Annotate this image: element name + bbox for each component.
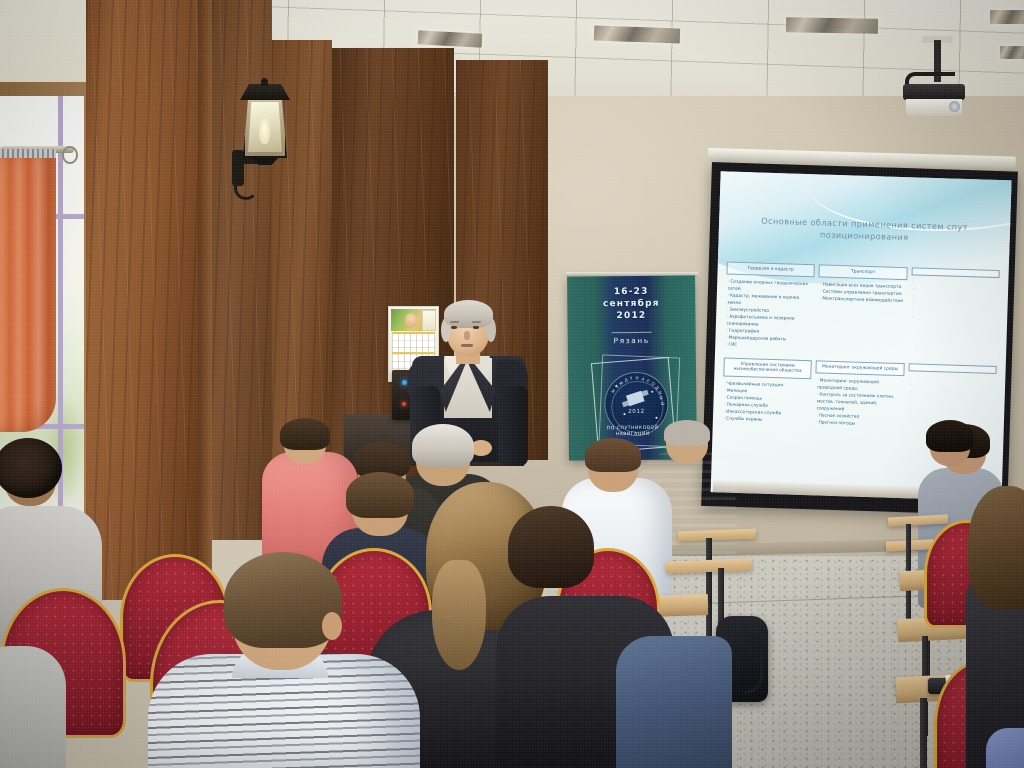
desk-leg (706, 538, 712, 636)
slide-column-heading (908, 363, 997, 374)
curtain-header-tape (0, 149, 56, 158)
attendee-hair (508, 506, 594, 588)
slide-column: Мониторинг окружающей среды Мониторинг о… (814, 361, 905, 431)
ceiling-light-panel (1000, 46, 1024, 59)
banner-dates: 16-23 сентября 2012 (567, 285, 695, 323)
attendee-hair (280, 418, 330, 450)
presenter-eye-left (451, 326, 457, 329)
slide-column-list: Чрезвычайные ситуации Милиция Скорая пом… (722, 381, 812, 425)
presenter-brow-right (472, 321, 481, 323)
conference-room-photo: Основные области применения систем спут … (0, 0, 1024, 768)
attendee-ear (322, 612, 342, 640)
presenter-brow-left (450, 321, 459, 323)
attendee-blue-sleeve (986, 728, 1024, 768)
wood-column-edge (196, 0, 212, 600)
calendar-accent-band (392, 352, 435, 354)
projector-lens (949, 101, 960, 112)
equipment-status-led (402, 402, 406, 406)
calendar-photo-subject (405, 313, 417, 328)
presenter-mouth (461, 344, 473, 347)
banner-city: Рязань (568, 335, 696, 345)
attendee-hair (585, 438, 641, 472)
presenter-nose (464, 331, 470, 340)
slide-column-cropped (909, 267, 1000, 358)
slide-column-list: Навигация всех видов транспорта Системы … (818, 283, 907, 307)
curtain-rod-finial (62, 146, 78, 164)
attendee-hair (926, 420, 974, 452)
attendee-hair (968, 486, 1024, 610)
slide-list-item: Прогноз погоды (816, 421, 903, 431)
slide-column-list: Создание опорных геодезических сетей Кад… (724, 280, 815, 352)
lantern-scroll-ornament (234, 176, 258, 200)
slide-column-heading: Транспорт (819, 264, 908, 280)
slide-column: Транспорт Навигация всех видов транспорт… (816, 264, 907, 355)
slide-list-item: Службы охраны (724, 416, 811, 426)
slide-columns-row-1: Геодезия и кадастр Создание опорных геод… (724, 261, 1000, 357)
slide-column-heading: Геодезия и кадастр (726, 261, 815, 277)
window-curtain (0, 152, 56, 432)
lantern-finial (261, 78, 268, 86)
presenter-arm-right (498, 386, 528, 466)
slide-list-item: Контроль за состоянием плотин, мостов, т… (816, 393, 903, 417)
slide-column-heading: Управление системами жизнеобеспечения об… (723, 358, 812, 379)
attendee-hair (412, 424, 474, 468)
ceiling-light-panel (990, 10, 1024, 24)
slide-list-item: Межтранспортное взаимодействие (820, 297, 907, 307)
equipment-power-led (402, 380, 407, 385)
slide-list-item (912, 315, 999, 325)
projector-icon (903, 84, 965, 100)
slide-column: Управление системами жизнеобеспечения об… (721, 358, 812, 428)
ceiling-light-panel (786, 17, 878, 34)
lantern-bulb (259, 118, 270, 144)
slide-column-heading (911, 267, 1000, 278)
attendee-left-edge-shoulder (0, 646, 66, 768)
banner-divider (611, 332, 652, 333)
calendar-side-tab (422, 310, 436, 331)
attendee-hair (346, 472, 414, 518)
slide-list-item: ГИС (726, 342, 813, 352)
slide-column-list: Мониторинг окружающей природной среды Ко… (814, 379, 904, 430)
attendee-hair-strand (432, 560, 486, 670)
attendee-jeans-leg (616, 636, 732, 768)
slide-column-list (910, 280, 1000, 324)
slide-column-heading: Мониторинг окружающей среды (816, 361, 905, 377)
presenter-hair (444, 300, 493, 328)
ceiling-light-panel (594, 26, 680, 44)
banner-date-line-3: 2012 (567, 310, 695, 323)
presenter-eye-right (473, 326, 479, 329)
wood-column-main (86, 0, 198, 600)
slide-column: Геодезия и кадастр Создание опорных геод… (724, 261, 815, 352)
attendee-hair (664, 420, 710, 446)
desk-leg (920, 698, 927, 768)
